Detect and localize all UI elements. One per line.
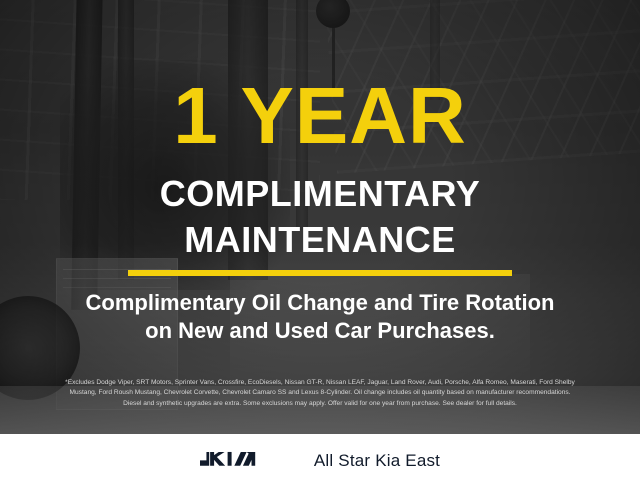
headline-year: 1 YEAR	[0, 76, 640, 156]
subheadline-line-1: Complimentary Oil Change and Tire Rotati…	[0, 289, 640, 317]
disclaimer-text: *Excludes Dodge Viper, SRT Motors, Sprin…	[14, 378, 626, 409]
disclaimer-line-1: *Excludes Dodge Viper, SRT Motors, Sprin…	[14, 378, 626, 388]
banner-content: 1 YEAR COMPLIMENTARY MAINTENANCE Complim…	[0, 0, 640, 488]
subheadline: Complimentary Oil Change and Tire Rotati…	[0, 289, 640, 345]
disclaimer-line-2: Mustang, Ford Roush Mustang, Chevrolet C…	[14, 388, 626, 398]
yellow-divider-bar	[128, 270, 512, 276]
kia-logo-icon	[200, 446, 292, 477]
promo-banner: 1 YEAR COMPLIMENTARY MAINTENANCE Complim…	[0, 0, 640, 488]
banner-footer: All Star Kia East	[0, 434, 640, 488]
disclaimer-line-3: Diesel and synthetic upgrades are extra.…	[14, 399, 626, 409]
subheadline-line-2: on New and Used Car Purchases.	[0, 317, 640, 345]
headline-complimentary: COMPLIMENTARY	[0, 176, 640, 212]
dealer-name: All Star Kia East	[314, 451, 440, 471]
headline-maintenance: MAINTENANCE	[0, 222, 640, 258]
